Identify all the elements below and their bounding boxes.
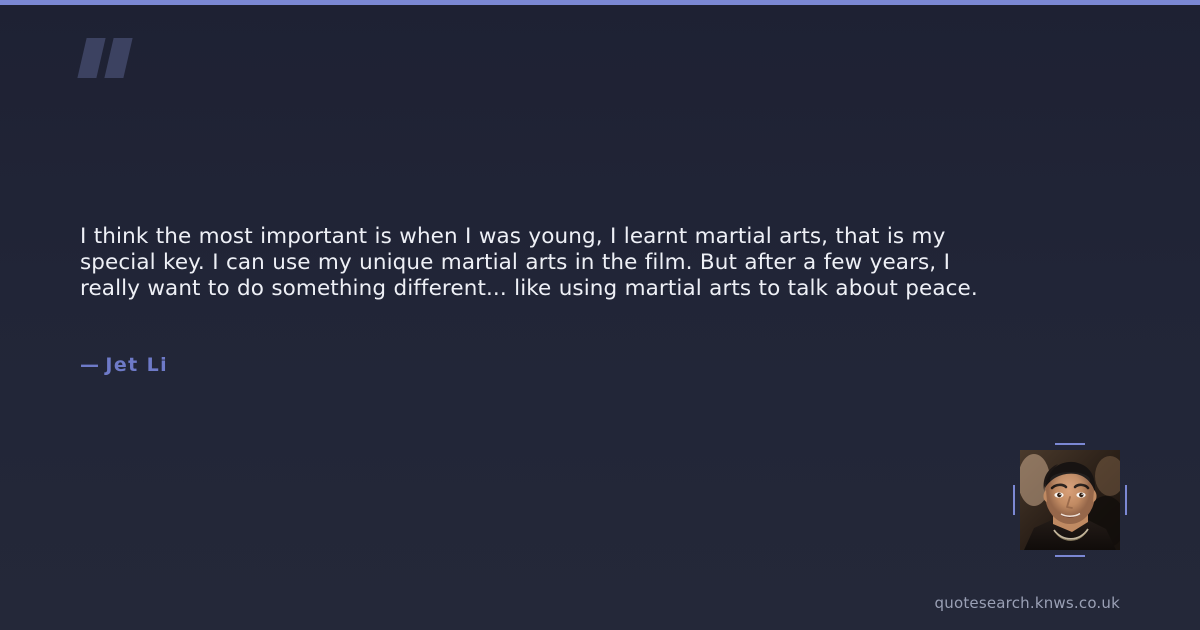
- attribution: —Jet Li: [80, 354, 168, 376]
- frame-tick-left-icon: [1013, 485, 1015, 515]
- quote-card: I think the most important is when I was…: [0, 0, 1200, 630]
- quote-glyph-right: [104, 38, 132, 78]
- attribution-author: Jet Li: [105, 354, 168, 376]
- frame-tick-bottom-icon: [1055, 555, 1085, 557]
- frame-tick-top-icon: [1055, 443, 1085, 445]
- source-url[interactable]: quotesearch.knws.co.uk: [935, 594, 1120, 612]
- author-portrait: [1020, 450, 1120, 550]
- quote-text: I think the most important is when I was…: [80, 224, 1000, 301]
- frame-tick-right-icon: [1125, 485, 1127, 515]
- avatar: [1020, 450, 1120, 550]
- quote-block: I think the most important is when I was…: [80, 224, 1000, 301]
- attribution-dash: —: [80, 354, 100, 376]
- top-accent-bar: [0, 0, 1200, 5]
- quote-glyph-left: [77, 38, 105, 78]
- open-quote-icon: [80, 38, 140, 80]
